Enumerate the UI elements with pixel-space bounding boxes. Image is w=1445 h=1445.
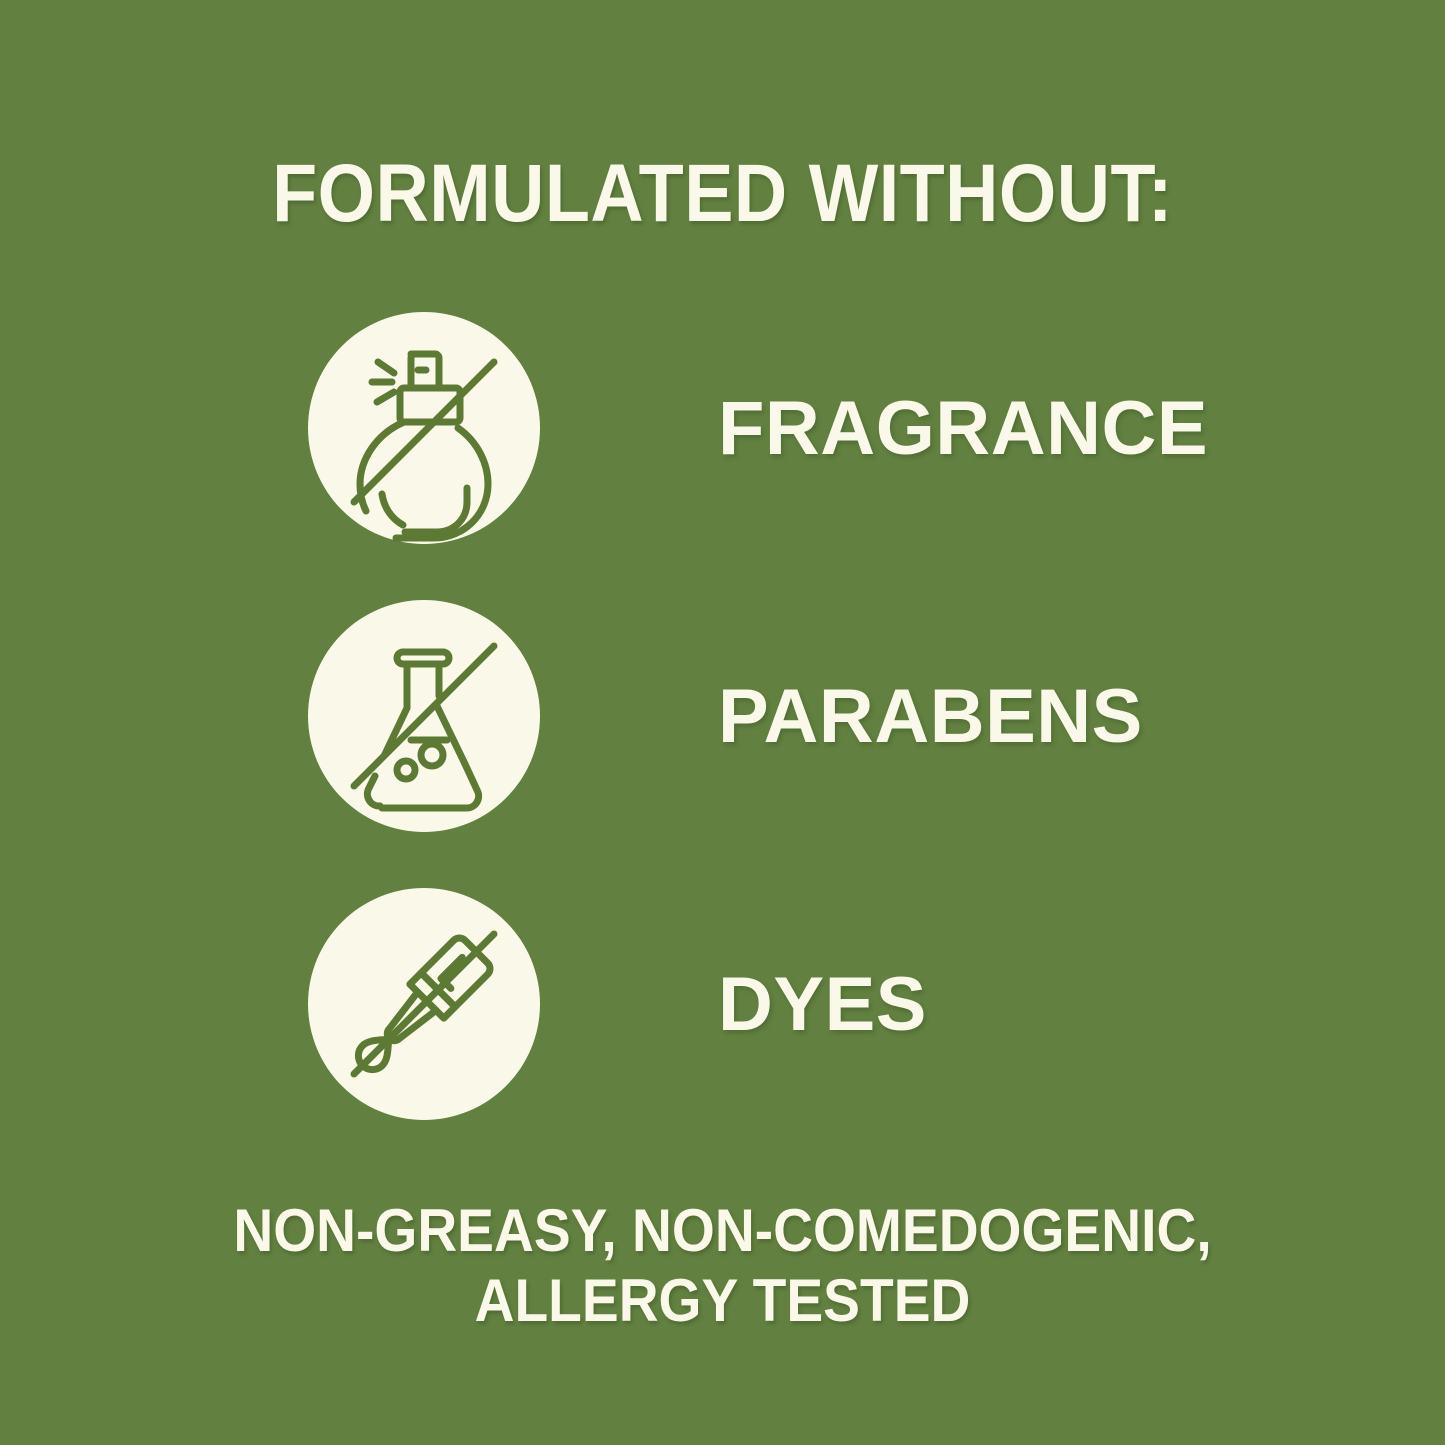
no-fragrance-bottle-icon xyxy=(308,312,540,544)
footer-line-2: ALLERGY TESTED xyxy=(58,1266,1387,1336)
no-dropper-icon xyxy=(308,888,540,1120)
claims-list: FRAGRANCE xyxy=(0,312,1445,1176)
footer-claims: NON-GREASY, NON-COMEDOGENIC, ALLERGY TES… xyxy=(58,1196,1387,1336)
list-item-label-fragrance: FRAGRANCE xyxy=(718,312,1208,544)
no-flask-icon xyxy=(308,600,540,832)
list-item-fragrance: FRAGRANCE xyxy=(0,312,1445,600)
formulated-without-panel: FORMULATED WITHOUT: xyxy=(0,0,1445,1445)
page-title: FORMULATED WITHOUT: xyxy=(72,146,1373,242)
list-item-label-parabens: PARABENS xyxy=(718,600,1143,832)
list-item-label-dyes: DYES xyxy=(718,888,927,1120)
list-item-dyes: DYES xyxy=(0,888,1445,1176)
list-item-parabens: PARABENS xyxy=(0,600,1445,888)
footer-line-1: NON-GREASY, NON-COMEDOGENIC, xyxy=(58,1196,1387,1266)
